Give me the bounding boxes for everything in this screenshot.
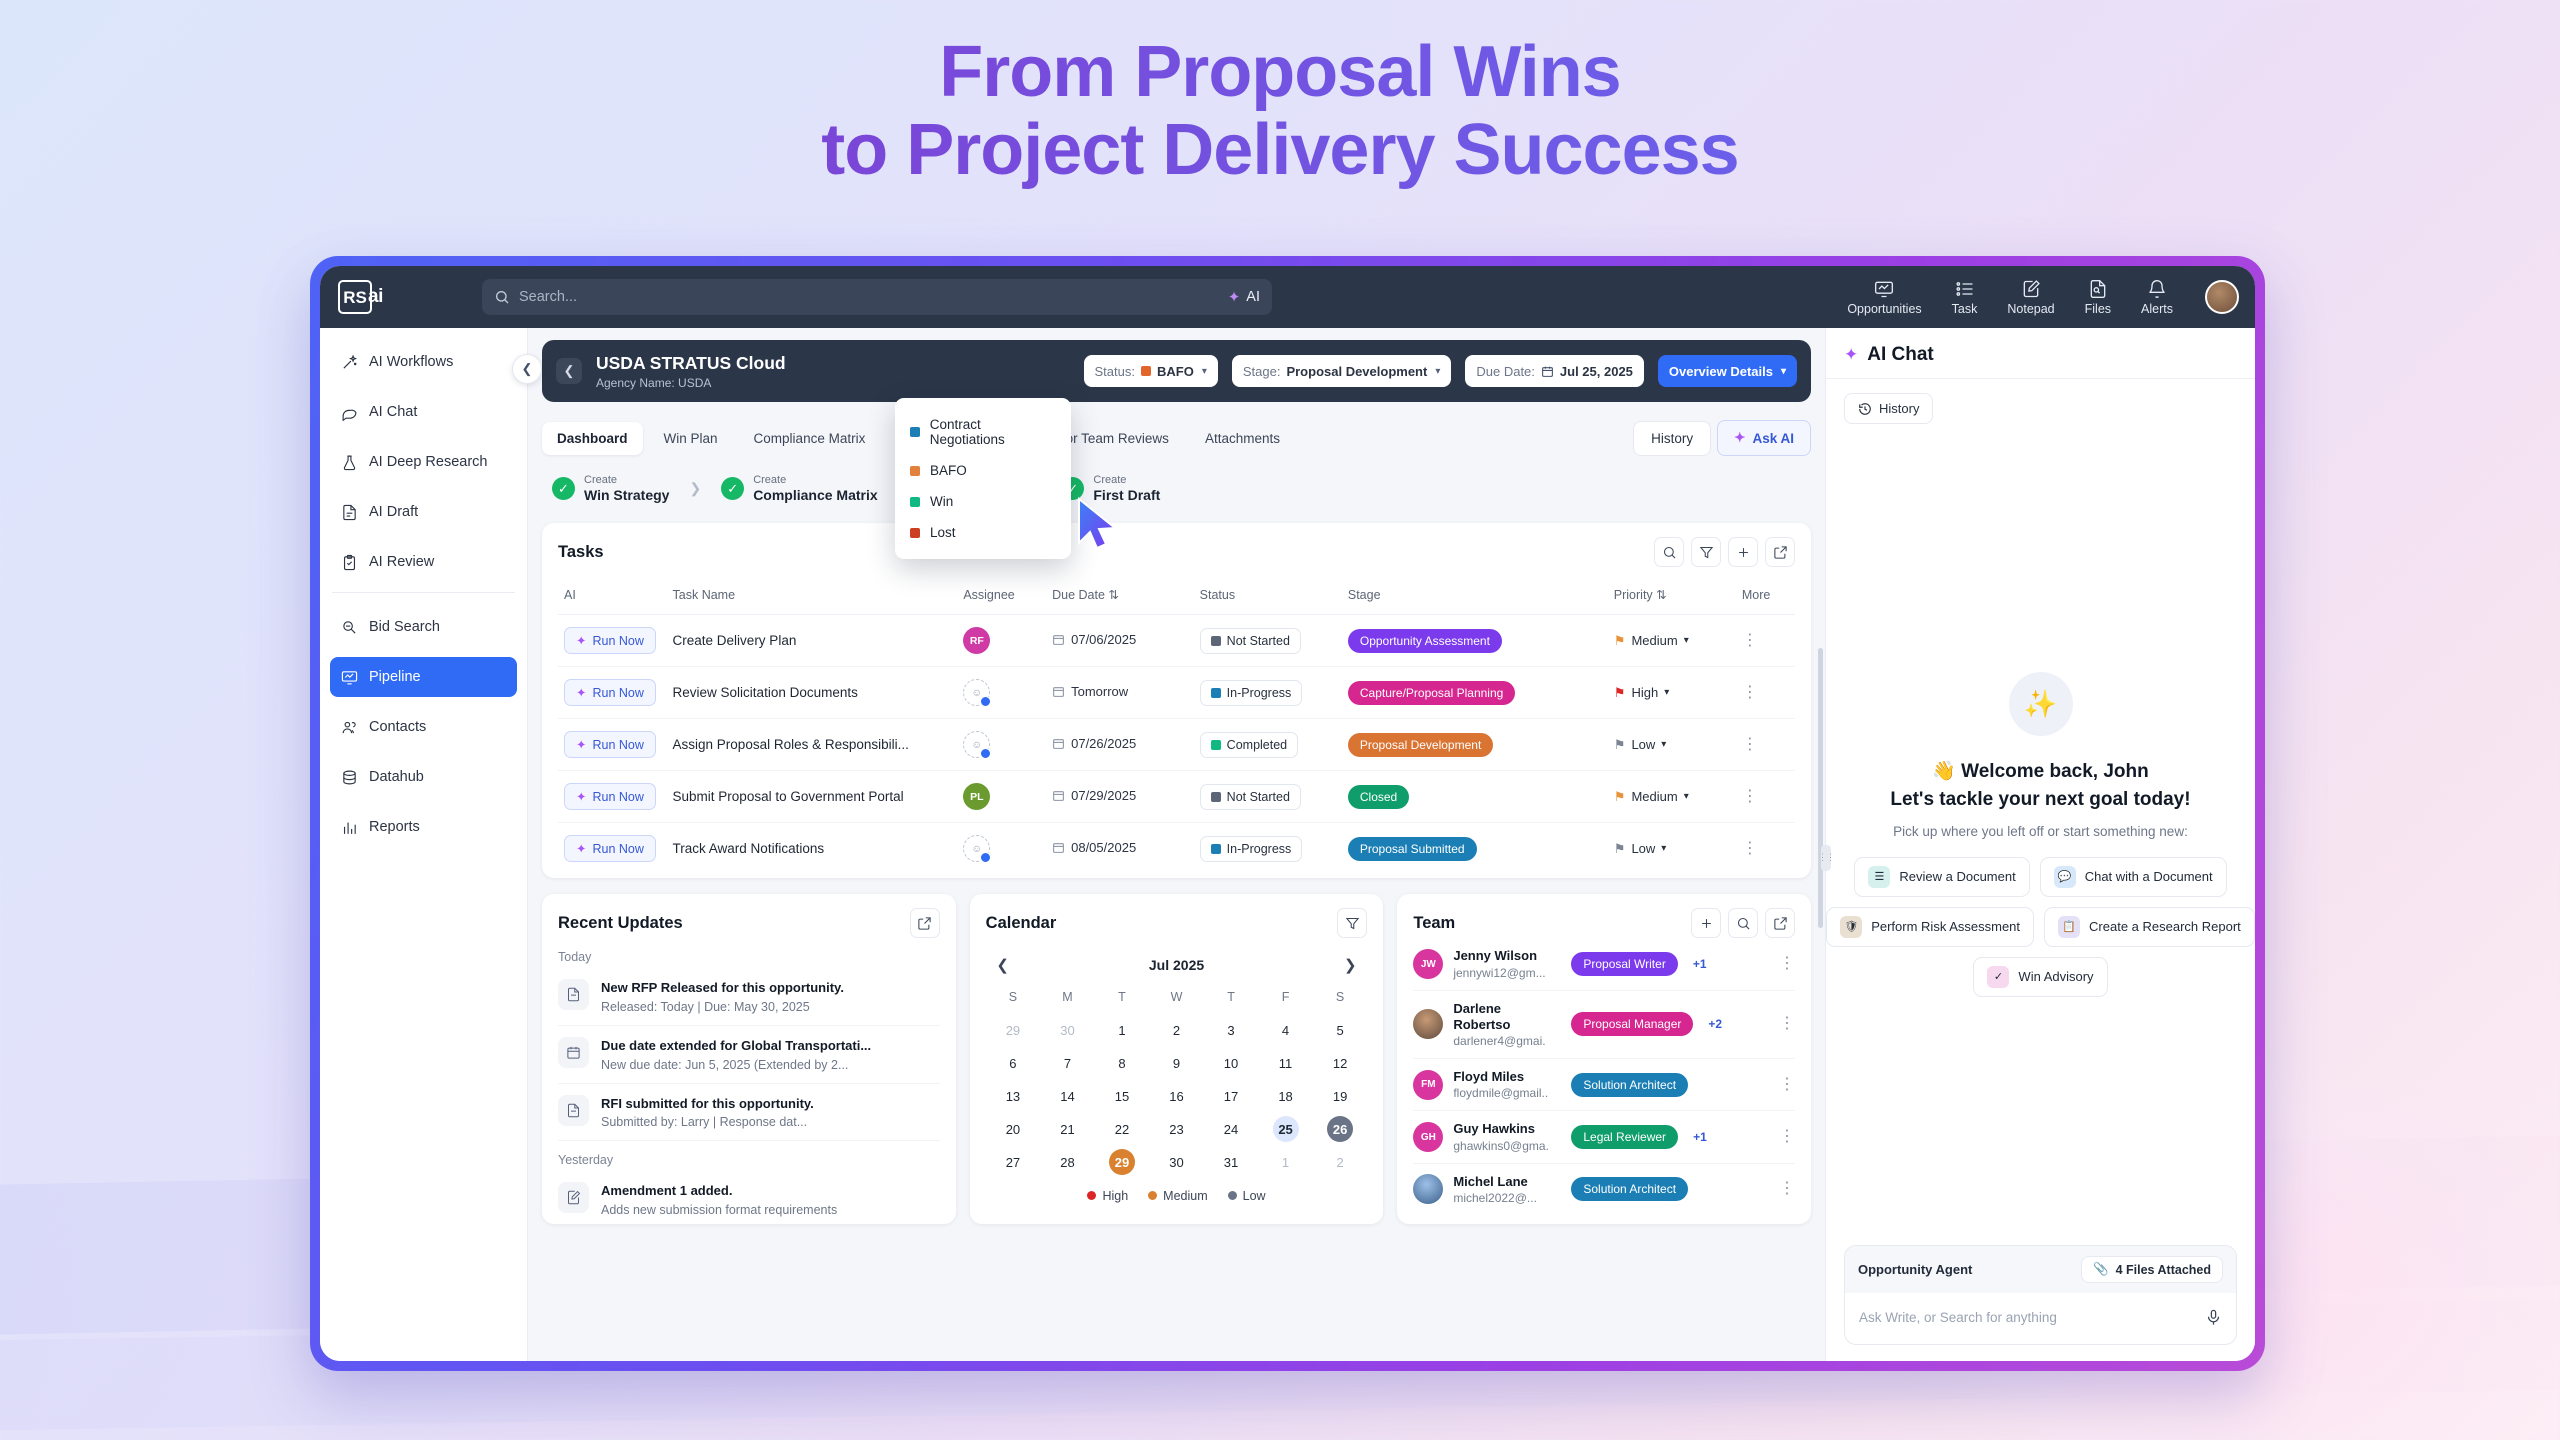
calendar-day[interactable]: 27 xyxy=(986,1149,1041,1175)
calendar-day[interactable]: 12 xyxy=(1313,1050,1368,1076)
sidebar-item-ai-review[interactable]: AI Review xyxy=(330,542,517,582)
sidebar-item-label: AI Deep Research xyxy=(369,454,487,470)
sparkle-icon: ✦ xyxy=(576,633,586,648)
calendar-dow: S xyxy=(986,986,1041,1010)
calendar-month-label: Jul 2025 xyxy=(1016,957,1338,973)
calendar-day[interactable]: 7 xyxy=(1040,1050,1095,1076)
list-check-icon xyxy=(1954,279,1976,299)
role-overflow-count[interactable]: +1 xyxy=(1693,1130,1707,1144)
topnav-label: Opportunities xyxy=(1847,302,1921,316)
file-search-icon xyxy=(2087,279,2109,299)
tasks-card: Tasks AI Task Name Assignee Due Date ⇅ xyxy=(542,523,1811,878)
quick-action-win-advisory[interactable]: ✓ Win Advisory xyxy=(1973,957,2107,997)
magic-wand-icon xyxy=(341,354,358,371)
history-icon xyxy=(1858,402,1872,416)
status-color-dot xyxy=(1211,636,1221,646)
role-badge: Solution Architect xyxy=(1571,1177,1688,1201)
task-due-date: 07/26/2025 xyxy=(1052,736,1136,751)
status-dropdown[interactable]: Status: BAFO ▾ xyxy=(1084,355,1218,387)
member-email: floydmile@gmail.. xyxy=(1453,1086,1561,1100)
calendar-day[interactable]: 24 xyxy=(1204,1116,1259,1142)
quick-action-review-document[interactable]: ☰ Review a Document xyxy=(1854,857,2029,897)
chat-bubble-icon xyxy=(341,404,358,421)
tasks-title: Tasks xyxy=(558,543,604,562)
status-option-label: BAFO xyxy=(930,463,967,478)
status-option-label: Lost xyxy=(930,525,956,540)
row-menu-button[interactable]: ⋮ xyxy=(1779,1181,1795,1197)
chat-composer: Opportunity Agent 📎 4 Files Attached xyxy=(1844,1245,2237,1345)
col-stage: Stage xyxy=(1342,579,1608,615)
role-badge: Legal Reviewer xyxy=(1571,1125,1678,1149)
priority-selector[interactable]: ⚑High▾ xyxy=(1614,685,1669,701)
chevron-down-icon: ▾ xyxy=(1684,791,1689,802)
calendar-icon xyxy=(1052,633,1065,646)
document-icon xyxy=(341,504,358,521)
clipboard-icon: 📋 xyxy=(2058,916,2080,938)
calendar-next-button[interactable]: ❯ xyxy=(1337,952,1363,978)
calendar-day[interactable]: 15 xyxy=(1095,1083,1150,1109)
chevron-left-icon: ❮ xyxy=(564,363,575,379)
member-name: Michel Lane xyxy=(1453,1174,1561,1190)
step-label: Win Strategy xyxy=(584,487,669,504)
calendar-icon xyxy=(1052,737,1065,750)
recent-updates-expand-button[interactable] xyxy=(910,908,940,938)
status-label: Status: xyxy=(1095,364,1135,379)
status-dropdown-menu[interactable]: Contract Negotiations BAFO Win Lost xyxy=(895,398,1071,559)
row-menu-button[interactable]: ⋮ xyxy=(1779,1129,1795,1145)
role-badge: Proposal Writer xyxy=(1571,952,1677,976)
list-item[interactable]: RFI submitted for this opportunity. Subm… xyxy=(558,1084,940,1142)
sidebar-item-bid-search[interactable]: Bid Search xyxy=(330,607,517,647)
recent-updates-panel: Recent Updates Today New RFP Released fo… xyxy=(542,894,956,1224)
team-title: Team xyxy=(1413,914,1455,933)
calendar-day[interactable]: 10 xyxy=(1204,1050,1259,1076)
calendar-day[interactable]: 20 xyxy=(986,1116,1041,1142)
calendar-day[interactable]: 2 xyxy=(1313,1149,1368,1175)
role-badge: Proposal Manager xyxy=(1571,1012,1693,1036)
sidebar-item-label: Reports xyxy=(369,819,420,835)
calendar-dow: T xyxy=(1204,986,1259,1010)
status-option-contract-negotiations[interactable]: Contract Negotiations xyxy=(895,409,1071,455)
tab-attachments[interactable]: Attachments xyxy=(1190,422,1295,455)
check-circle-icon: ✓ xyxy=(1987,966,2009,988)
status-color-dot xyxy=(1141,366,1151,376)
chat-agent-name: Opportunity Agent xyxy=(1858,1262,1972,1277)
status-option-win[interactable]: Win xyxy=(895,486,1071,517)
col-task-name: Task Name xyxy=(667,579,958,615)
status-option-bafo[interactable]: BAFO xyxy=(895,455,1071,486)
back-button[interactable]: ❮ xyxy=(556,358,582,384)
topnav-item-files[interactable]: Files xyxy=(2085,279,2111,316)
row-menu-button[interactable]: ⋮ xyxy=(1742,684,1758,701)
sidebar-item-ai-chat[interactable]: AI Chat xyxy=(330,392,517,432)
role-overflow-count[interactable]: +2 xyxy=(1708,1017,1722,1031)
chat-input[interactable] xyxy=(1859,1310,2195,1325)
status-option-label: Win xyxy=(930,494,953,509)
sidebar-item-contacts[interactable]: Contacts xyxy=(330,707,517,747)
status-option-lost[interactable]: Lost xyxy=(895,517,1071,548)
row-menu-button[interactable]: ⋮ xyxy=(1742,632,1758,649)
chevron-right-icon: ❯ xyxy=(1344,956,1357,974)
sidebar-item-label: AI Workflows xyxy=(369,354,453,370)
calendar-dow: F xyxy=(1258,986,1313,1010)
priority-selector[interactable]: ⚑Medium▾ xyxy=(1614,633,1689,649)
sparkle-icon: ✦ xyxy=(576,789,586,804)
calendar-day[interactable]: 5 xyxy=(1313,1017,1368,1043)
calendar-prev-button[interactable]: ❮ xyxy=(990,952,1016,978)
overview-details-button[interactable]: Overview Details ▾ xyxy=(1658,355,1797,387)
calendar-day[interactable]: 4 xyxy=(1258,1017,1313,1043)
col-due-date[interactable]: Due Date ⇅ xyxy=(1046,579,1194,615)
app-frame: RS ai ✦ AI Opportunities Task Notepad xyxy=(310,256,2265,1371)
update-title: Amendment 1 added. xyxy=(601,1182,837,1200)
sort-icon: ⇅ xyxy=(1656,588,1666,602)
chevron-down-icon: ▾ xyxy=(1435,366,1440,377)
calendar-icon xyxy=(1052,789,1065,802)
status-badge[interactable]: Not Started xyxy=(1200,628,1301,654)
team-search-button[interactable] xyxy=(1728,908,1758,938)
sidebar-divider xyxy=(332,592,515,593)
flag-icon: ⚑ xyxy=(1614,737,1626,753)
chevron-left-icon: ❮ xyxy=(996,956,1009,974)
status-value: BAFO xyxy=(1157,364,1194,379)
ai-chat-panel: ⋮⋮ ✦ AI Chat History ✨ 👋 Welcome back, J… xyxy=(1825,328,2255,1361)
chat-history-label: History xyxy=(1879,401,1919,416)
avatar: GH xyxy=(1413,1122,1443,1152)
bar-chart-icon xyxy=(341,819,358,836)
document-icon xyxy=(558,1095,589,1126)
sidebar-item-label: Bid Search xyxy=(369,619,440,635)
legend-high: High xyxy=(1087,1189,1128,1203)
status-color-dot xyxy=(910,466,920,476)
sidebar-item-ai-draft[interactable]: AI Draft xyxy=(330,492,517,532)
global-search[interactable]: ✦ AI xyxy=(482,279,1272,315)
calendar-icon xyxy=(558,1037,589,1068)
avatar[interactable]: ☺ xyxy=(963,679,990,706)
tab-compliance-matrix[interactable]: Compliance Matrix xyxy=(739,422,881,455)
files-attached-pill[interactable]: 📎 4 Files Attached xyxy=(2081,1256,2223,1283)
update-subtitle: Released: Today | Due: May 30, 2025 xyxy=(601,1000,844,1014)
main-content: ❮ USDA STRATUS Cloud Agency Name: USDA S… xyxy=(528,328,1825,1361)
opportunity-title: USDA STRATUS Cloud xyxy=(596,353,786,374)
priority-selector[interactable]: ⚑Medium▾ xyxy=(1614,789,1689,805)
calendar-day[interactable]: 14 xyxy=(1040,1083,1095,1109)
calendar-day[interactable]: 16 xyxy=(1149,1083,1204,1109)
team-expand-button[interactable] xyxy=(1765,908,1795,938)
role-overflow-count[interactable]: +1 xyxy=(1693,957,1707,971)
member-name: Jenny Wilson xyxy=(1453,948,1561,964)
calendar-day[interactable]: 18 xyxy=(1258,1083,1313,1109)
note-edit-icon xyxy=(558,1182,589,1213)
run-now-button[interactable]: ✦Run Now xyxy=(564,731,656,758)
chevron-down-icon: ▾ xyxy=(1684,635,1689,646)
hero-headline: From Proposal Wins to Project Delivery S… xyxy=(0,34,2560,190)
avatar[interactable]: RF xyxy=(963,627,990,654)
sidebar-item-label: Datahub xyxy=(369,769,424,785)
calendar-day-selected[interactable]: 25 xyxy=(1258,1116,1313,1142)
status-color-dot xyxy=(1211,740,1221,750)
row-menu-button[interactable]: ⋮ xyxy=(1742,840,1758,857)
sidebar-collapse-button[interactable]: ❮ xyxy=(512,354,542,384)
run-now-button[interactable]: ✦Run Now xyxy=(564,783,656,810)
avatar xyxy=(1413,1009,1443,1039)
flask-icon xyxy=(341,454,358,471)
team-panel: Team JW Jenny Wilsonjennywi12@gm... Prop… xyxy=(1397,894,1811,1224)
avatar[interactable]: ☺ xyxy=(963,835,990,862)
calendar-day[interactable]: 2 xyxy=(1149,1017,1204,1043)
expand-icon xyxy=(1773,545,1788,560)
search-icon xyxy=(1736,916,1751,931)
calendar-day[interactable]: 17 xyxy=(1204,1083,1259,1109)
topnav-label: Files xyxy=(2085,302,2111,316)
member-email: darlener4@gmai. xyxy=(1453,1034,1561,1048)
recent-updates-title: Recent Updates xyxy=(558,914,683,933)
calendar-day[interactable]: 19 xyxy=(1313,1083,1368,1109)
sidebar-item-ai-deep-research[interactable]: AI Deep Research xyxy=(330,442,517,482)
bell-icon xyxy=(2146,279,2168,299)
chat-subtitle: Pick up where you left off or start some… xyxy=(1893,824,2188,839)
calendar-day[interactable]: 31 xyxy=(1204,1149,1259,1175)
calendar-icon xyxy=(1052,685,1065,698)
sparkle-icon: ✦ xyxy=(1844,345,1858,365)
list-item[interactable]: Darlene Robertsodarlener4@gmai. Proposal… xyxy=(1413,991,1795,1060)
quick-action-risk-assessment[interactable]: 🛡 Perform Risk Assessment xyxy=(1826,907,2034,947)
expand-icon xyxy=(917,916,932,931)
row-menu-button[interactable]: ⋮ xyxy=(1779,1077,1795,1093)
calendar-day[interactable]: 23 xyxy=(1149,1116,1204,1142)
status-color-dot xyxy=(1211,844,1221,854)
app-window: RS ai ✦ AI Opportunities Task Notepad xyxy=(320,266,2255,1361)
tasks-filter-button[interactable] xyxy=(1691,537,1721,567)
priority-selector[interactable]: ⚑Low▾ xyxy=(1614,737,1667,753)
list-item[interactable]: JW Jenny Wilsonjennywi12@gm... Proposal … xyxy=(1413,938,1795,990)
microphone-icon[interactable] xyxy=(2205,1309,2222,1326)
table-row[interactable]: ✦Run Now Create Delivery Plan RF 07/06/2… xyxy=(558,615,1795,667)
panel-resize-handle[interactable]: ⋮⋮ xyxy=(1821,845,1831,871)
table-row[interactable]: ✦Run Now Submit Proposal to Government P… xyxy=(558,771,1795,823)
flag-icon: ⚑ xyxy=(1614,685,1626,701)
sidebar-item-reports[interactable]: Reports xyxy=(330,807,517,847)
top-bar: RS ai ✦ AI Opportunities Task Notepad xyxy=(320,266,2255,328)
col-assignee: Assignee xyxy=(957,579,1046,615)
update-group-label: Yesterday xyxy=(558,1153,940,1167)
workflow-step-compliance-matrix[interactable]: ✓ Create Compliance Matrix xyxy=(711,470,887,507)
list-item[interactable]: FM Floyd Milesfloydmile@gmail.. Solution… xyxy=(1413,1059,1795,1111)
calendar-day[interactable]: 13 xyxy=(986,1083,1041,1109)
calendar-day[interactable]: 22 xyxy=(1095,1116,1150,1142)
calendar-legend: High Medium Low xyxy=(986,1189,1368,1203)
col-more: More xyxy=(1736,579,1795,615)
list-item[interactable]: Michel Lanemichel2022@... Solution Archi… xyxy=(1413,1164,1795,1215)
avatar[interactable]: PL xyxy=(963,783,990,810)
row-menu-button[interactable]: ⋮ xyxy=(1742,736,1758,753)
status-badge[interactable]: Completed xyxy=(1200,732,1298,758)
task-name: Submit Proposal to Government Portal xyxy=(667,771,958,823)
quick-action-research-report[interactable]: 📋 Create a Research Report xyxy=(2044,907,2255,947)
calendar-day[interactable]: 30 xyxy=(1040,1017,1095,1043)
sidebar-item-label: AI Draft xyxy=(369,504,418,520)
sparkle-icon: ✦ xyxy=(576,737,586,752)
check-circle-icon: ✓ xyxy=(721,477,744,500)
sidebar-item-pipeline[interactable]: Pipeline xyxy=(330,657,517,697)
calendar-day[interactable]: 29 xyxy=(986,1017,1041,1043)
search-input[interactable] xyxy=(519,289,1219,305)
calendar-day[interactable]: 1 xyxy=(1095,1017,1150,1043)
tab-dashboard[interactable]: Dashboard xyxy=(542,422,643,455)
status-color-dot xyxy=(1211,688,1221,698)
people-icon xyxy=(341,719,358,736)
topnav-label: Notepad xyxy=(2007,302,2054,316)
due-date-value: Jul 25, 2025 xyxy=(1560,364,1633,379)
row-menu-button[interactable]: ⋮ xyxy=(1779,956,1795,972)
calendar-dow: W xyxy=(1149,986,1204,1010)
table-row[interactable]: ✦Run Now Review Solicitation Documents ☺… xyxy=(558,667,1795,719)
calendar-dow: M xyxy=(1040,986,1095,1010)
tab-win-plan[interactable]: Win Plan xyxy=(649,422,733,455)
step-small-label: Create xyxy=(1093,474,1160,487)
tab-bar: Dashboard Win Plan Compliance Matrix Out… xyxy=(542,420,1811,456)
quick-action-chat-with-document[interactable]: 💬 Chat with a Document xyxy=(2040,857,2227,897)
team-add-button[interactable] xyxy=(1691,908,1721,938)
topnav-label: Task xyxy=(1952,302,1978,316)
plus-icon xyxy=(1736,545,1751,560)
hero-line-2: to Project Delivery Success xyxy=(0,112,2560,190)
logo-wordmark: ai xyxy=(368,286,383,308)
calendar-day[interactable]: 28 xyxy=(1040,1149,1095,1175)
calendar-day-low[interactable]: 26 xyxy=(1313,1116,1368,1142)
search-ai-label: AI xyxy=(1246,289,1260,305)
table-row[interactable]: ✦Run Now Assign Proposal Roles & Respons… xyxy=(558,719,1795,771)
calendar-day[interactable]: 6 xyxy=(986,1050,1041,1076)
status-badge[interactable]: Not Started xyxy=(1200,784,1301,810)
sparkle-icon: ✦ xyxy=(1228,288,1241,306)
step-label: Compliance Matrix xyxy=(753,487,877,504)
tasks-add-button[interactable] xyxy=(1728,537,1758,567)
bid-search-icon xyxy=(341,619,358,636)
list-item[interactable]: GH Guy Hawkinsghawkins0@gma. Legal Revie… xyxy=(1413,1111,1795,1163)
run-now-button[interactable]: ✦Run Now xyxy=(564,627,656,654)
stage-badge: Closed xyxy=(1348,785,1409,809)
stage-badge: Proposal Development xyxy=(1348,733,1493,757)
flag-icon: ⚑ xyxy=(1614,789,1626,805)
ask-ai-label: Ask AI xyxy=(1752,431,1794,446)
due-date-field[interactable]: Due Date: Jul 25, 2025 xyxy=(1465,355,1644,387)
history-button[interactable]: History xyxy=(1633,421,1711,456)
topnav-item-notepad[interactable]: Notepad xyxy=(2007,279,2054,316)
status-badge[interactable]: In-Progress xyxy=(1200,680,1303,706)
topnav-item-task[interactable]: Task xyxy=(1952,279,1978,316)
row-menu-button[interactable]: ⋮ xyxy=(1779,1016,1795,1032)
search-ai-button[interactable]: ✦ AI xyxy=(1228,288,1260,306)
task-due-date: Tomorrow xyxy=(1052,684,1128,699)
list-item[interactable]: Amendment 1 added. Adds new submission f… xyxy=(558,1171,940,1224)
avatar xyxy=(1413,1174,1443,1204)
filter-icon xyxy=(1699,545,1714,560)
ask-ai-button[interactable]: ✦ Ask AI xyxy=(1717,420,1811,456)
update-group-label: Today xyxy=(558,950,940,964)
calendar-day-medium[interactable]: 29 xyxy=(1095,1149,1150,1175)
task-due-date: 07/29/2025 xyxy=(1052,788,1136,803)
top-navigation: Opportunities Task Notepad Files Alerts xyxy=(1847,279,2173,316)
topnav-item-alerts[interactable]: Alerts xyxy=(2141,279,2173,316)
topnav-item-opportunities[interactable]: Opportunities xyxy=(1847,279,1921,316)
col-priority[interactable]: Priority ⇅ xyxy=(1608,579,1736,615)
sidebar-item-ai-workflows[interactable]: AI Workflows xyxy=(330,342,517,382)
stage-value: Proposal Development xyxy=(1286,364,1427,379)
priority-selector[interactable]: ⚑Low▾ xyxy=(1614,841,1667,857)
overview-details-label: Overview Details xyxy=(1669,364,1773,379)
chevron-down-icon: ▾ xyxy=(1202,366,1207,377)
calendar-dow: T xyxy=(1095,986,1150,1010)
status-option-label: Contract Negotiations xyxy=(930,417,1056,447)
topnav-label: Alerts xyxy=(2141,302,2173,316)
avatar: FM xyxy=(1413,1070,1443,1100)
chevron-down-icon: ▾ xyxy=(1781,366,1786,377)
update-subtitle: New due date: Jun 5, 2025 (Extended by 2… xyxy=(601,1058,871,1072)
calendar-day[interactable]: 21 xyxy=(1040,1116,1095,1142)
stage-dropdown[interactable]: Stage: Proposal Development ▾ xyxy=(1232,355,1452,387)
calendar-day[interactable]: 8 xyxy=(1095,1050,1150,1076)
sidebar-item-datahub[interactable]: Datahub xyxy=(330,757,517,797)
stage-label: Stage: xyxy=(1243,364,1281,379)
tasks-expand-button[interactable] xyxy=(1765,537,1795,567)
status-color-dot xyxy=(1211,792,1221,802)
status-color-dot xyxy=(910,497,920,507)
member-name: Floyd Miles xyxy=(1453,1069,1561,1085)
due-date-label: Due Date: xyxy=(1476,364,1535,379)
app-logo[interactable]: RS ai xyxy=(338,280,468,314)
status-badge[interactable]: In-Progress xyxy=(1200,836,1303,862)
run-now-button[interactable]: ✦Run Now xyxy=(564,679,656,706)
run-now-button[interactable]: ✦Run Now xyxy=(564,835,656,862)
calendar-day[interactable]: 1 xyxy=(1258,1149,1313,1175)
search-icon xyxy=(1662,545,1677,560)
list-item[interactable]: Due date extended for Global Transportat… xyxy=(558,1026,940,1084)
member-email: michel2022@... xyxy=(1453,1191,1561,1205)
search-icon xyxy=(494,289,510,305)
row-menu-button[interactable]: ⋮ xyxy=(1742,788,1758,805)
chevron-down-icon: ▾ xyxy=(1661,843,1666,854)
tasks-search-button[interactable] xyxy=(1654,537,1684,567)
member-email: ghawkins0@gma. xyxy=(1453,1139,1561,1153)
chat-history-button[interactable]: History xyxy=(1844,393,1933,424)
sparkle-icon: ✦ xyxy=(1734,430,1745,446)
document-icon xyxy=(558,979,589,1010)
calendar-day[interactable]: 3 xyxy=(1204,1017,1259,1043)
calendar-filter-button[interactable] xyxy=(1337,908,1367,938)
table-row[interactable]: ✦Run Now Track Award Notifications ☺ 08/… xyxy=(558,823,1795,875)
user-avatar[interactable] xyxy=(2205,280,2239,314)
update-title: New RFP Released for this opportunity. xyxy=(601,979,844,997)
sidebar: AI Workflows AI Chat AI Deep Research AI… xyxy=(320,328,528,1361)
calendar-day[interactable]: 30 xyxy=(1149,1149,1204,1175)
flag-icon: ⚑ xyxy=(1614,633,1626,649)
opportunity-header: ❮ USDA STRATUS Cloud Agency Name: USDA S… xyxy=(542,340,1811,402)
calendar-title: Calendar xyxy=(986,914,1057,933)
task-name: Assign Proposal Roles & Responsibili... xyxy=(667,719,958,771)
workflow-step-win-strategy[interactable]: ✓ Create Win Strategy xyxy=(542,470,679,507)
paperclip-icon: 📎 xyxy=(2093,1262,2109,1277)
calendar-day[interactable]: 9 xyxy=(1149,1050,1204,1076)
bottom-panels: Recent Updates Today New RFP Released fo… xyxy=(542,894,1811,1224)
legend-low: Low xyxy=(1228,1189,1266,1203)
avatar[interactable]: ☺ xyxy=(963,731,990,758)
list-item[interactable]: New RFP Released for this opportunity. R… xyxy=(558,968,940,1026)
ai-chat-title: AI Chat xyxy=(1867,344,1934,366)
step-small-label: Create xyxy=(753,474,877,487)
calendar-day[interactable]: 11 xyxy=(1258,1050,1313,1076)
calendar-panel: Calendar ❮ Jul 2025 ❯ S M T W T xyxy=(970,894,1384,1224)
